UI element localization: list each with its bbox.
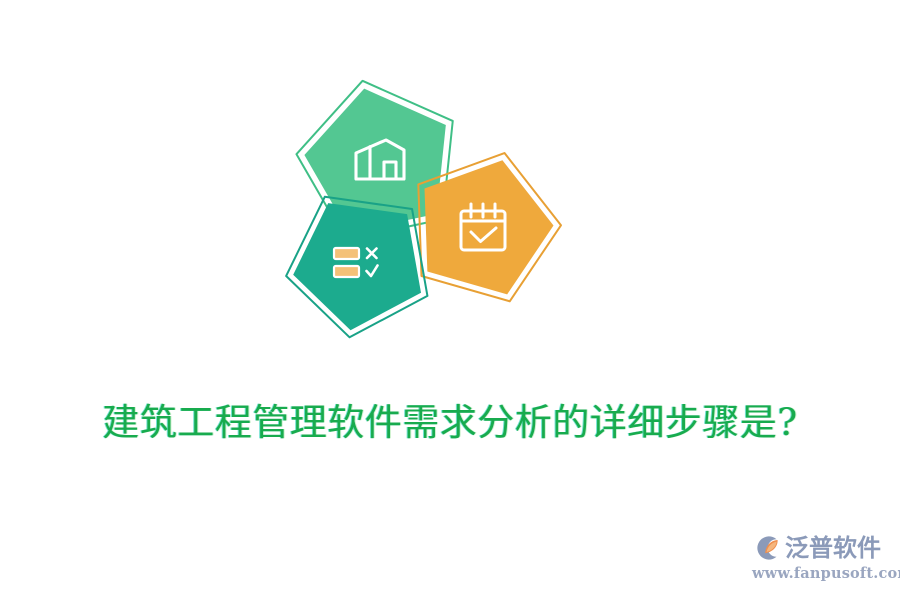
brand-name: 泛普软件 [785, 533, 881, 563]
fanpu-logo-mark-icon [752, 533, 782, 563]
brand-row: 泛普软件 [752, 532, 888, 564]
brand-watermark: 泛普软件 www.fanpusoft.com [752, 532, 888, 588]
page-title: 建筑工程管理软件需求分析的详细步骤是? [0, 398, 900, 448]
brand-url: www.fanpusoft.com [752, 565, 888, 582]
poster-canvas: 建筑工程管理软件需求分析的详细步骤是? 泛普软件 www.fanpusoft.c… [0, 0, 900, 600]
hero-illustration [285, 78, 575, 343]
